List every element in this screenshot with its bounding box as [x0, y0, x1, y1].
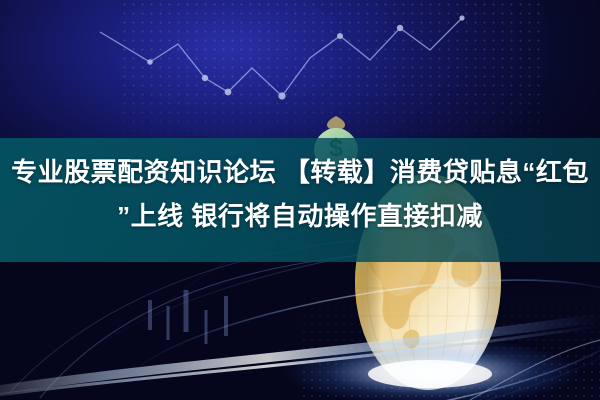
headline-line-2: ”上线 银行将自动操作直接扣减 [0, 196, 600, 236]
headline-line-1: 专业股票配资知识论坛 【转载】消费贷贴息“红包 [0, 152, 600, 192]
banner-image: $ [0, 0, 600, 400]
